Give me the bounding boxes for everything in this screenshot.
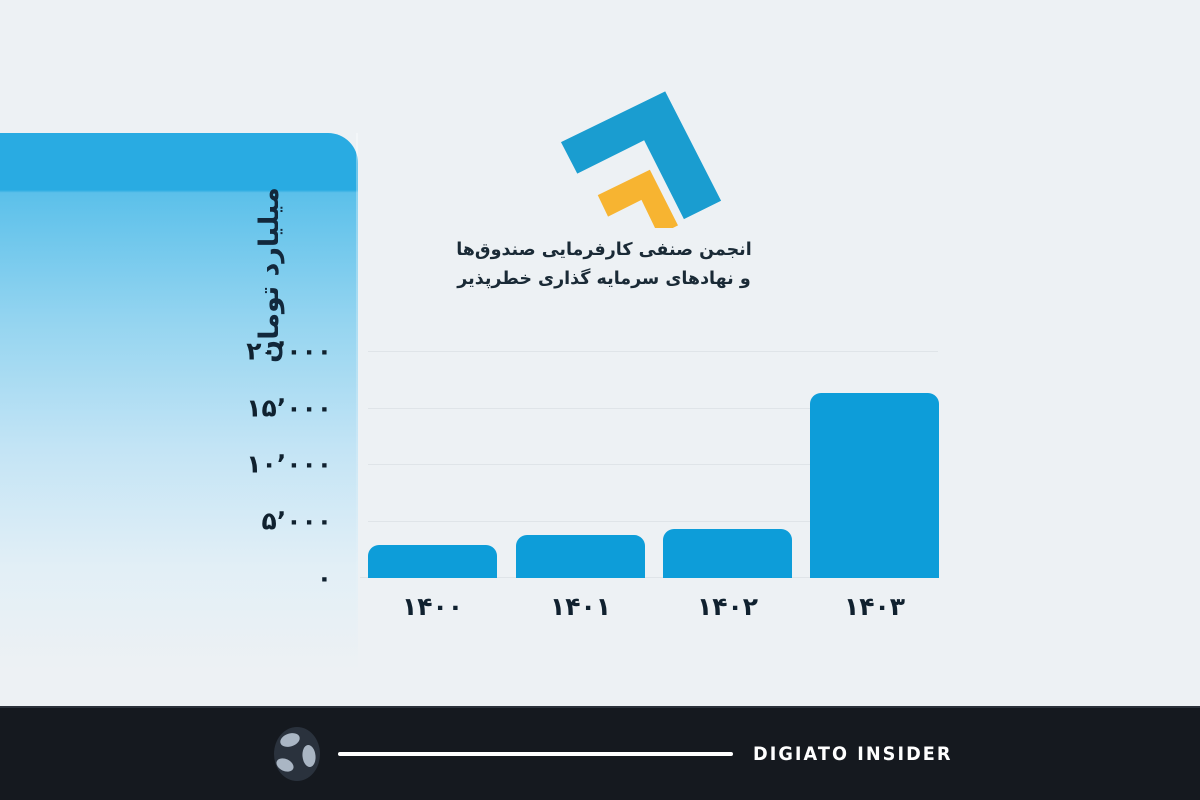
x-tick-label-1402: ۱۴۰۲ (663, 592, 792, 621)
x-tick-label-1400: ۱۴۰۰ (368, 592, 497, 621)
y-tick-label-0: ۰ (212, 564, 332, 593)
footer-content: DIGIATO INSIDER (270, 724, 968, 784)
y-tick-label-20000: ۲۰٬۰۰۰ (212, 337, 332, 366)
organization-caption-line-1: انجمن صنفی کارفرمایی صندوق‌ها (430, 236, 778, 265)
chart-plot-area (368, 351, 938, 578)
y-tick-label-10000: ۱۰٬۰۰۰ (212, 450, 332, 479)
y-tick-label-15000: ۱۵٬۰۰۰ (212, 394, 332, 423)
organization-caption: انجمن صنفی کارفرمایی صندوق‌ها و نهادهای … (430, 236, 778, 294)
footer-brand-text: DIGIATO INSIDER (753, 743, 953, 765)
y-tick-label-5000: ۵٬۰۰۰ (212, 507, 332, 536)
x-tick-label-1403: ۱۴۰۳ (810, 592, 939, 621)
footer-divider-rule (338, 752, 733, 756)
digiato-logo (270, 724, 324, 784)
anjoman-vc-logo (551, 82, 743, 228)
infographic-canvas: میلیارد تومان انجمن صنفی کارفرمایی صندوق… (0, 0, 1200, 800)
footer-bar: DIGIATO INSIDER (0, 706, 1200, 800)
organization-caption-line-2: و نهادهای سرمایه گذاری خطرپذیر (430, 265, 778, 294)
bar-1403[interactable] (810, 393, 939, 578)
gridline-20000 (368, 351, 938, 352)
bar-1402[interactable] (663, 529, 792, 578)
bar-1401[interactable] (516, 535, 645, 578)
bar-1400[interactable] (368, 545, 497, 578)
x-tick-label-1401: ۱۴۰۱ (516, 592, 645, 621)
